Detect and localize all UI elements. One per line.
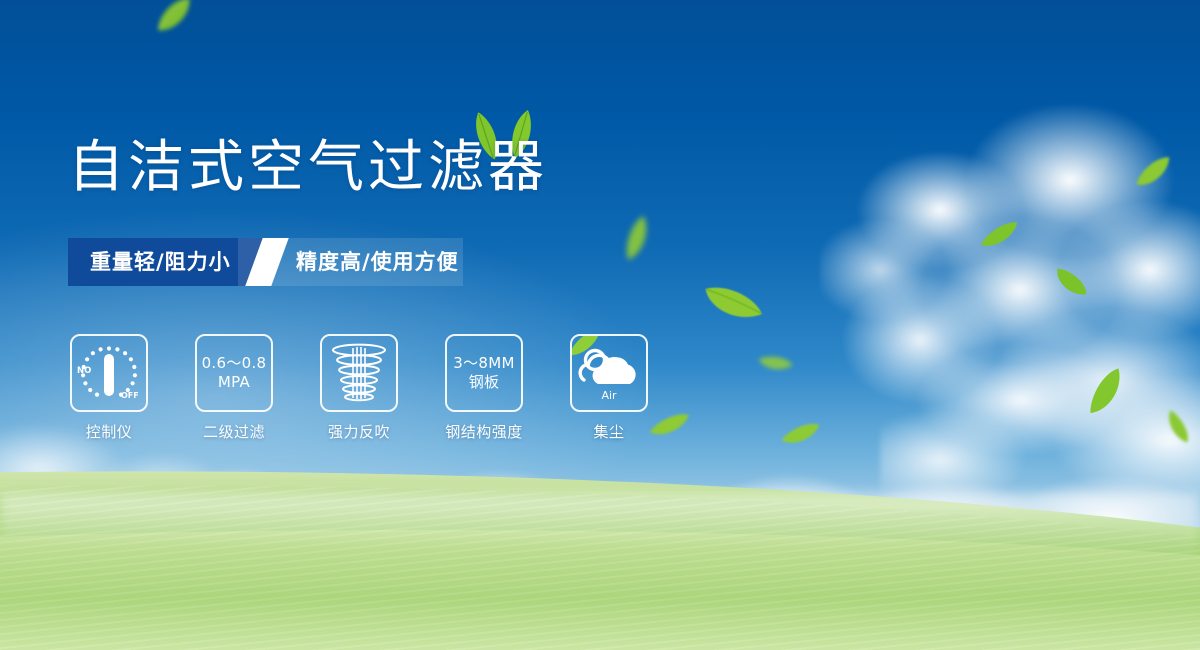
feature-item-control[interactable]: NO OFF 控制仪 — [70, 334, 148, 442]
page-title: 自洁式空气过滤器 — [68, 140, 548, 196]
feature-label: 集尘 — [593, 421, 624, 442]
feature-item-blowback[interactable]: 强力反吹 — [320, 334, 398, 442]
steel-material: 钢板 — [453, 373, 514, 392]
feature-label: 控制仪 — [86, 421, 133, 442]
banner-stage: 自洁式空气过滤器 重量轻/阻力小 精度高/使用方便 — [0, 0, 1200, 650]
subtitle-text-right: 精度高/使用方便 — [296, 238, 459, 286]
pressure-value: 0.6～0.8 — [202, 354, 267, 372]
feature-icon-box: 3～8MM 钢板 — [445, 334, 523, 412]
feature-label: 强力反吹 — [328, 421, 390, 442]
steel-thickness: 3～8MM — [453, 354, 514, 372]
feature-icon-box — [320, 334, 398, 412]
feature-icon-box: NO OFF — [70, 334, 148, 412]
feature-item-steel[interactable]: 3～8MM 钢板 钢结构强度 — [445, 334, 523, 442]
control-dial-icon: NO OFF — [72, 336, 146, 410]
pressure-unit: MPA — [202, 373, 267, 392]
feature-item-dust[interactable]: Air 集尘 — [570, 334, 648, 442]
dial-on-label: NO — [77, 366, 91, 376]
feature-list: NO OFF 控制仪 0.6～0.8 MPA 二级过滤 — [70, 334, 648, 442]
feature-icon-box: Air — [570, 334, 648, 412]
feature-label: 二级过滤 — [203, 421, 265, 442]
feature-item-pressure[interactable]: 0.6～0.8 MPA 二级过滤 — [195, 334, 273, 442]
dial-off-label: OFF — [121, 391, 139, 400]
pressure-text-icon: 0.6～0.8 MPA — [202, 354, 267, 392]
steel-plate-text-icon: 3～8MM 钢板 — [453, 354, 514, 392]
subtitle-text-left: 重量轻/阻力小 — [90, 238, 231, 286]
cloud-caption: Air — [601, 389, 617, 402]
cloud-air-icon: Air — [578, 344, 640, 402]
feature-label: 钢结构强度 — [445, 421, 523, 442]
subtitle-bar: 重量轻/阻力小 精度高/使用方便 — [68, 238, 463, 286]
feature-icon-box: 0.6～0.8 MPA — [195, 334, 273, 412]
filter-cartridge-icon — [329, 342, 389, 404]
